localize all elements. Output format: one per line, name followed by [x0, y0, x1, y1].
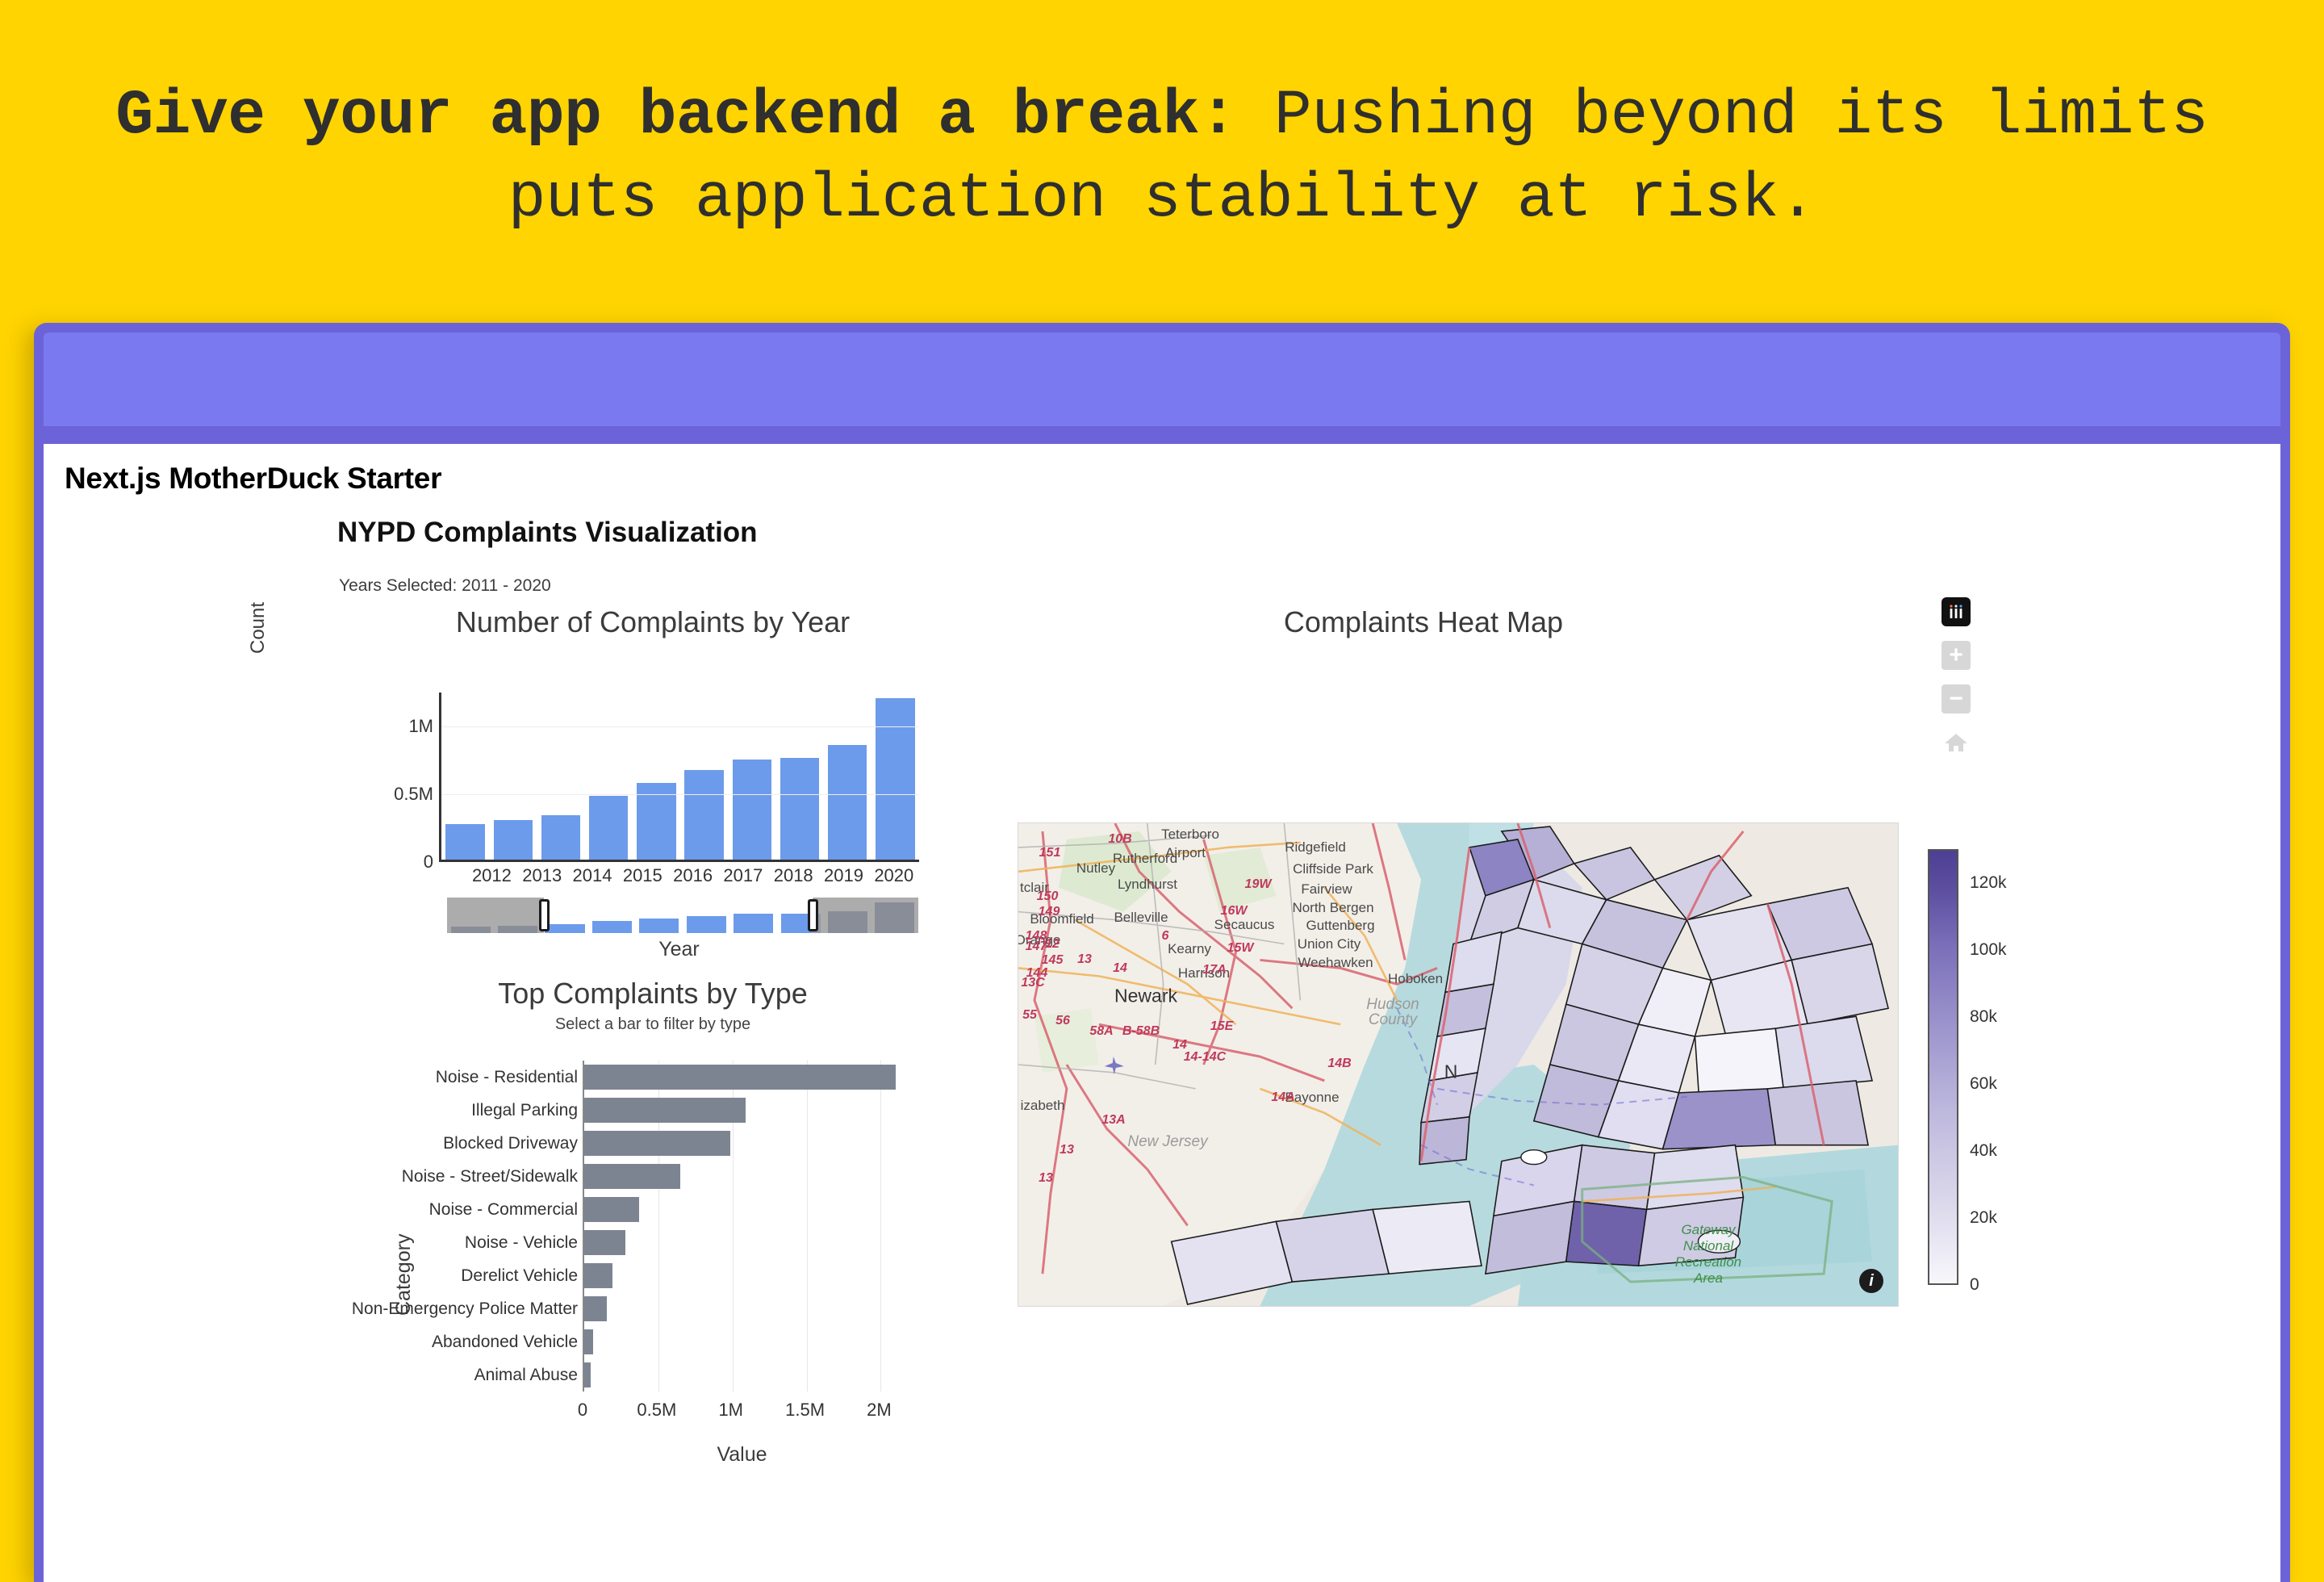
- chart-bar[interactable]: [584, 1197, 639, 1222]
- browser-toolbar[interactable]: [44, 333, 2280, 426]
- chart-bar[interactable]: [445, 824, 485, 860]
- map-basemap: [1018, 823, 1898, 1306]
- map-route-shield: 55: [1022, 1008, 1037, 1023]
- map-place-label: Lyndhurst: [1118, 877, 1177, 893]
- legend-tick-label: 120k: [1970, 873, 2007, 893]
- map-route-shield: 151: [1039, 846, 1061, 860]
- chart-title-by-type: Top Complaints by Type: [334, 977, 972, 1011]
- map-route-shield: 13: [1077, 952, 1092, 967]
- map-controls: + −: [1942, 597, 1974, 772]
- map-place-label: N: [1444, 1061, 1458, 1083]
- chart-gridline: [441, 794, 919, 795]
- map-place-label: Teterboro: [1161, 827, 1219, 843]
- brush-selection-left[interactable]: [447, 898, 544, 933]
- chart-bar[interactable]: [589, 796, 629, 860]
- brush-bar-slot[interactable]: [636, 898, 683, 933]
- chart-bars[interactable]: [441, 693, 919, 860]
- map-place-label: New Jersey: [1127, 1133, 1207, 1151]
- chart-title-by-year: Number of Complaints by Year: [334, 605, 972, 639]
- chart-category-label: Noise - Commercial: [429, 1200, 578, 1220]
- map-route-shield: 10B: [1108, 832, 1131, 847]
- legend-tick-label: 20k: [1970, 1208, 1997, 1228]
- map-place-label: Kearny: [1168, 941, 1211, 957]
- map-place-label: Union City: [1298, 936, 1361, 952]
- legend-tick-label: 60k: [1970, 1074, 1997, 1094]
- chart-bar-row[interactable]: Noise - Commercial: [584, 1193, 901, 1226]
- map-route-shield: 16W: [1221, 904, 1248, 919]
- brush-bar-slot[interactable]: [729, 898, 776, 933]
- chart-category-label: Blocked Driveway: [443, 1134, 578, 1153]
- browser-window: Next.js MotherDuck Starter NYPD Complain…: [34, 323, 2290, 1582]
- chart-gridline: [441, 726, 919, 727]
- chart-bar[interactable]: [584, 1263, 612, 1288]
- chart-bar-row[interactable]: Noise - Vehicle: [584, 1226, 901, 1259]
- chart-bar[interactable]: [494, 820, 533, 860]
- chart-x-tick: 2017: [718, 865, 768, 886]
- chart-x-tick: 2018: [768, 865, 818, 886]
- chart-bar[interactable]: [584, 1131, 730, 1156]
- home-icon[interactable]: [1942, 728, 1971, 757]
- map-route-shield: 13: [1060, 1143, 1074, 1157]
- map-route-shield: 17A: [1202, 963, 1226, 977]
- year-range-brush[interactable]: [447, 898, 918, 933]
- chart-bar-slot[interactable]: [489, 693, 537, 860]
- map-place-label: Ridgefield: [1285, 839, 1346, 856]
- map-route-shield: 13A: [1101, 1113, 1125, 1128]
- page-title: Next.js MotherDuck Starter: [65, 462, 441, 496]
- top-complaints-by-type-chart: Top Complaints by Type Select a bar to f…: [334, 977, 972, 1574]
- map-route-shield: 13: [1039, 1171, 1053, 1186]
- brush-selection-right[interactable]: [813, 898, 918, 933]
- chart-category-label: Derelict Vehicle: [461, 1266, 578, 1286]
- chart-x-tick-labels: 201220132014201520162017201820192020: [439, 865, 919, 886]
- chart-bar-row[interactable]: Noise - Street/Sidewalk: [584, 1160, 901, 1193]
- chart-bar-slot[interactable]: [441, 693, 489, 860]
- promo-banner-lead: Give your app backend a break:: [115, 81, 1236, 152]
- chart-x-tick: 2016: [667, 865, 717, 886]
- brush-bar[interactable]: [545, 924, 584, 933]
- chart-bar[interactable]: [828, 745, 867, 860]
- map-place-label: Belleville: [1114, 910, 1168, 926]
- brush-bar[interactable]: [639, 919, 679, 933]
- map-place-label: County: [1369, 1011, 1417, 1029]
- chart-bar-row[interactable]: Abandoned Vehicle: [584, 1325, 901, 1358]
- map-route-shield: 14: [1113, 961, 1127, 976]
- chart-bar-row[interactable]: Non-Emergency Police Matter: [584, 1292, 901, 1325]
- chart-subtitle-by-type: Select a bar to filter by type: [334, 1015, 972, 1034]
- heat-map-color-legend: 020k40k60k80k100k120k: [1928, 849, 2025, 1285]
- map-route-shield: 149: [1039, 905, 1060, 919]
- brush-handle-start[interactable]: [539, 899, 550, 931]
- map-place-label: Fairview: [1301, 881, 1352, 898]
- browser-chrome-divider: [44, 426, 2280, 444]
- legend-tick-label: 80k: [1970, 1007, 1997, 1027]
- map-place-label: Weehawken: [1298, 955, 1373, 971]
- legend-tick-label: 100k: [1970, 940, 2007, 960]
- map-route-shield: 14: [1172, 1038, 1187, 1053]
- map-place-label: National: [1683, 1238, 1733, 1254]
- map-route-shield: 150: [1037, 889, 1059, 904]
- chart-x-tick: 2015: [617, 865, 667, 886]
- chart-x-tick: 2020: [869, 865, 919, 886]
- map-place-label: izabeth: [1021, 1098, 1065, 1114]
- chart-bar-slot[interactable]: [585, 693, 633, 860]
- chart-bar-row[interactable]: Noise - Residential: [584, 1061, 901, 1094]
- zoom-in-icon[interactable]: +: [1942, 641, 1971, 670]
- map-route-shield: 6: [1162, 929, 1169, 944]
- chart-bar[interactable]: [684, 770, 724, 860]
- chart-y-axis-label: Count: [247, 602, 270, 654]
- chart-x-tick: 1M: [718, 1400, 743, 1421]
- chart-bar[interactable]: [541, 815, 581, 860]
- chart-category-label: Noise - Vehicle: [465, 1233, 578, 1253]
- chart-x-tick: 2013: [517, 865, 567, 886]
- legend-gradient-bar: [1928, 849, 1958, 1285]
- legend-tick-label: 0: [1970, 1275, 1979, 1295]
- chart-bar[interactable]: [876, 698, 915, 860]
- chart-bar[interactable]: [584, 1164, 680, 1189]
- chart-x-tick: 2019: [818, 865, 868, 886]
- chart-x-tick: 2012: [466, 865, 516, 886]
- chart-y-tick: 1M: [408, 716, 433, 737]
- map-route-shield: 19W: [1245, 877, 1272, 892]
- complaints-heat-map: Complaints Heat Map + −: [980, 605, 2125, 1493]
- settings-icon[interactable]: [1942, 597, 1971, 626]
- chart-bar-slot[interactable]: [728, 693, 775, 860]
- visualization-heading: NYPD Complaints Visualization: [337, 517, 758, 549]
- page-viewport: Next.js MotherDuck Starter NYPD Complain…: [44, 444, 2280, 1582]
- chart-bar[interactable]: [584, 1065, 896, 1090]
- complaints-by-year-chart: Number of Complaints by Year Count 00.5M…: [334, 605, 972, 985]
- chart-bar-slot[interactable]: [680, 693, 728, 860]
- chart-x-tick: 0.5M: [637, 1400, 676, 1421]
- chart-bar-row[interactable]: Blocked Driveway: [584, 1127, 901, 1160]
- map-place-label: Newark: [1114, 986, 1177, 1007]
- promo-banner-text: Give your app backend a break: Pushing b…: [48, 75, 2276, 241]
- horizontal-bar-plot-area: Noise - ResidentialIllegal ParkingBlocke…: [583, 1061, 901, 1392]
- chart-bar-slot[interactable]: [775, 693, 823, 860]
- chart-value-axis-label: Value: [583, 1443, 901, 1467]
- map-route-shield: 14A: [1271, 1090, 1294, 1105]
- map-route-shield: 15W: [1227, 941, 1254, 956]
- brush-bar[interactable]: [592, 921, 632, 933]
- chart-plot-area: 00.5M1M: [439, 693, 919, 862]
- map-route-shield: 56: [1055, 1014, 1070, 1028]
- map-place-label: Nutley: [1076, 860, 1115, 877]
- chart-bar[interactable]: [584, 1230, 625, 1255]
- brush-bar[interactable]: [734, 914, 773, 933]
- chart-x-tick-pad: [439, 865, 466, 886]
- chart-y-tick: 0: [424, 852, 433, 873]
- chart-bar-slot[interactable]: [537, 693, 584, 860]
- map-route-shield: 14B: [1327, 1057, 1351, 1071]
- map-place-label: North Bergen: [1292, 900, 1373, 916]
- map-place-label: Guttenberg: [1306, 918, 1374, 934]
- chart-bar[interactable]: [584, 1329, 593, 1354]
- chart-x-tick: 0: [578, 1400, 587, 1421]
- map-route-shield: 147: [1026, 940, 1047, 954]
- map-route-shield: 14-14C: [1184, 1050, 1226, 1065]
- chart-bar[interactable]: [584, 1362, 591, 1387]
- zoom-out-icon[interactable]: −: [1942, 684, 1971, 714]
- map-canvas-container[interactable]: TeterboroAirportRidgefieldRutherfordNutl…: [1018, 822, 1899, 1307]
- years-selected-status: Years Selected: 2011 - 2020: [339, 576, 551, 596]
- map-attribution-info-icon[interactable]: i: [1859, 1269, 1883, 1293]
- chart-bar-row[interactable]: Animal Abuse: [584, 1358, 901, 1392]
- chart-bar[interactable]: [584, 1296, 607, 1321]
- brush-bar-slot[interactable]: [588, 898, 635, 933]
- chart-bar-slot[interactable]: [871, 693, 919, 860]
- chart-y-tick: 0.5M: [394, 784, 433, 805]
- map-route-shield: 58A: [1089, 1024, 1113, 1039]
- map-route-shield: 12: [1045, 937, 1060, 952]
- legend-tick-label: 40k: [1970, 1141, 1997, 1161]
- promo-banner: Give your app backend a break: Pushing b…: [0, 0, 2324, 316]
- chart-x-tick: 1.5M: [785, 1400, 825, 1421]
- chart-x-axis-label: Year: [439, 938, 919, 961]
- chart-bar[interactable]: [733, 760, 772, 860]
- chart-x-tick: 2014: [567, 865, 617, 886]
- chart-category-label: Animal Abuse: [474, 1366, 578, 1385]
- chart-category-label: Noise - Street/Sidewalk: [402, 1167, 578, 1186]
- brush-bar-slot[interactable]: [683, 898, 729, 933]
- map-place-label: Hoboken: [1388, 971, 1443, 987]
- brush-handle-end[interactable]: [808, 899, 818, 931]
- chart-category-label: Abandoned Vehicle: [432, 1333, 578, 1352]
- map-route-shield: B-58B: [1122, 1024, 1160, 1039]
- chart-bar-row[interactable]: Illegal Parking: [584, 1094, 901, 1127]
- map-route-shield: 13C: [1021, 976, 1044, 990]
- map-route-shield: 15E: [1210, 1019, 1233, 1034]
- chart-category-label: Non-Emergency Police Matter: [352, 1299, 578, 1319]
- chart-category-label: Illegal Parking: [471, 1101, 578, 1120]
- chart-category-label: Noise - Residential: [436, 1068, 578, 1087]
- chart-bar-row[interactable]: Derelict Vehicle: [584, 1259, 901, 1292]
- brush-bar[interactable]: [687, 916, 726, 933]
- chart-bar[interactable]: [780, 758, 820, 860]
- chart-x-tick: 2M: [867, 1400, 892, 1421]
- map-place-label: Area: [1694, 1270, 1723, 1287]
- chart-bar[interactable]: [584, 1098, 746, 1123]
- chart-bar-slot[interactable]: [633, 693, 680, 860]
- map-place-label: Recreation: [1675, 1254, 1741, 1270]
- chart-bar-slot[interactable]: [824, 693, 871, 860]
- map-place-label: Rutherford: [1113, 851, 1177, 867]
- chart-title-heat-map: Complaints Heat Map: [980, 605, 1867, 639]
- map-place-label: Secaucus: [1214, 917, 1275, 933]
- map-place-label: Cliffside Park: [1293, 861, 1373, 877]
- map-place-label: Gateway: [1681, 1222, 1735, 1238]
